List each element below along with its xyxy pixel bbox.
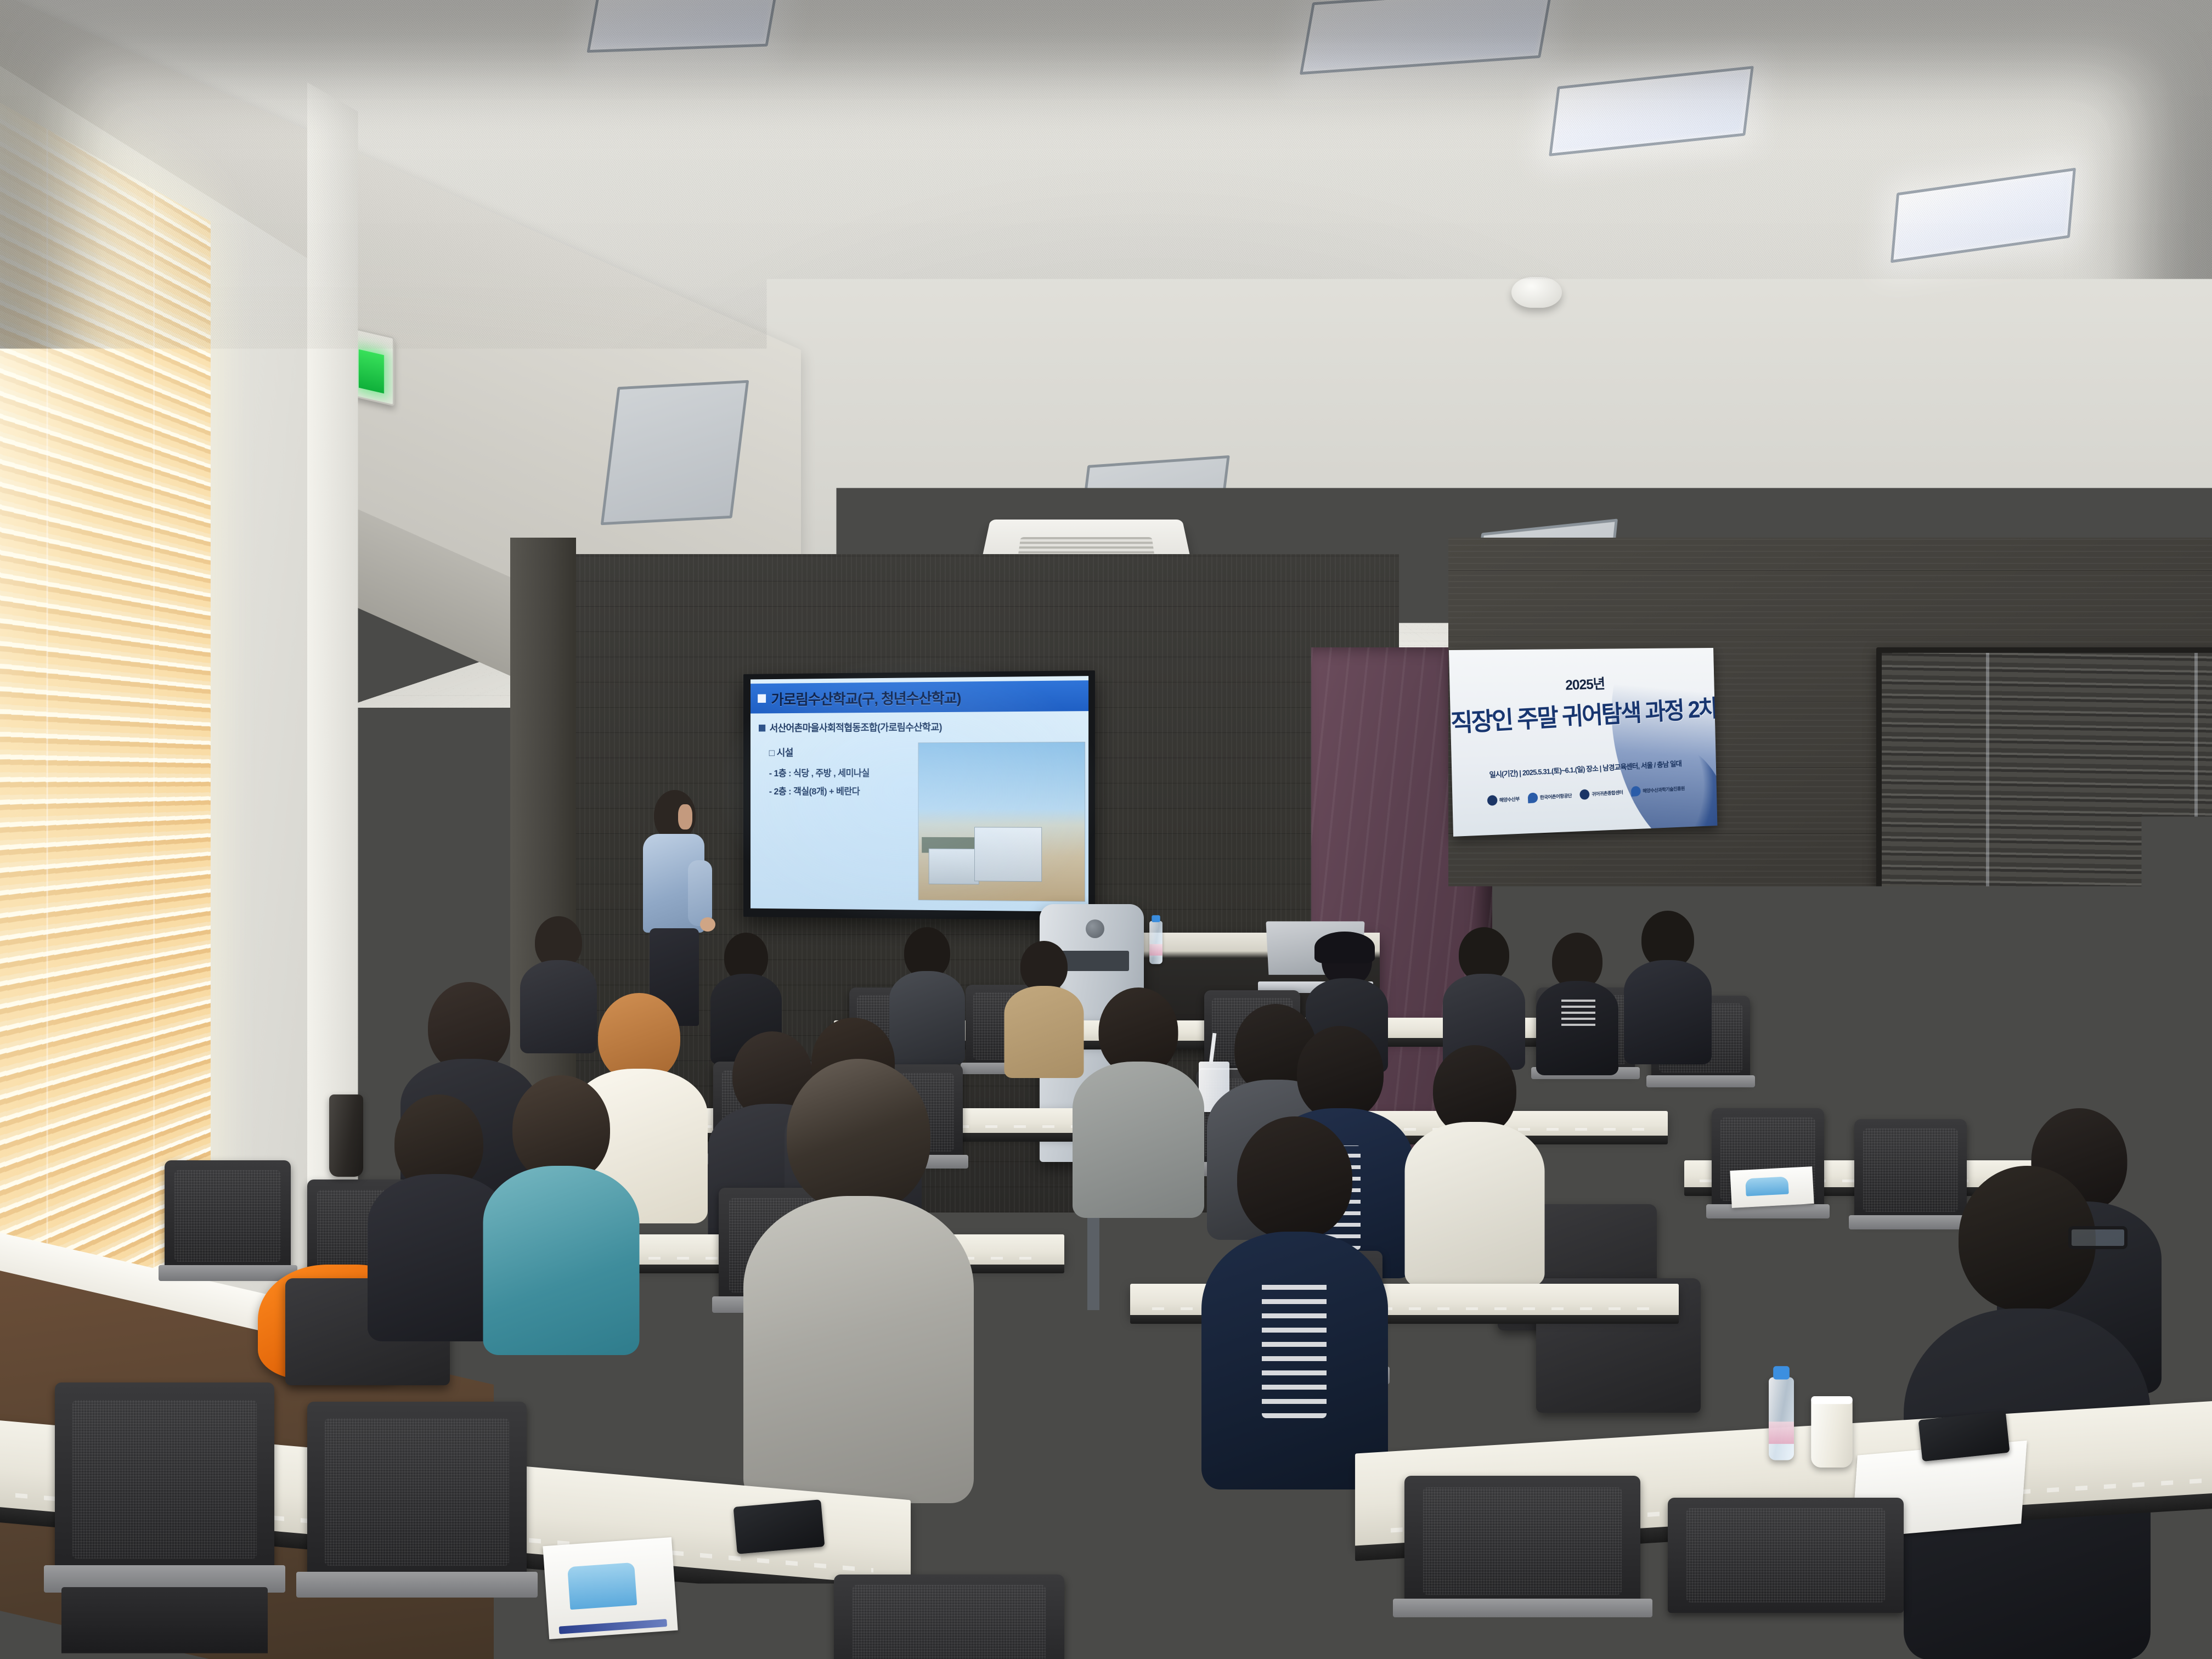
exit-icon: [359, 349, 384, 394]
chair[interactable]: [307, 1402, 527, 1659]
attendee-torso: [1536, 981, 1618, 1075]
chair-back: [55, 1383, 274, 1576]
crescent-mark-icon: [1631, 786, 1641, 797]
chair[interactable]: [55, 1383, 274, 1659]
attendee: [1404, 1045, 1544, 1286]
dark-venetian-blind-slats: [1882, 653, 2212, 960]
attendee-head: [1237, 1116, 1352, 1240]
bottle-cap: [1773, 1366, 1790, 1379]
slide-subtitle: 서산어촌마을사회적협동조합(가로림수산학교): [759, 720, 942, 735]
attendee-head: [1020, 941, 1068, 992]
chair-back: [834, 1575, 1064, 1659]
chair-rail: [296, 1572, 538, 1598]
chair-rail: [159, 1265, 297, 1281]
presenter: [631, 790, 719, 1026]
chair[interactable]: [1404, 1476, 1640, 1659]
house-mark-icon: [1579, 789, 1590, 800]
slide-subtitle-text: 서산어촌마을사회적협동조합(가로림수산학교): [770, 720, 942, 735]
attendee-shirt-graphic: [1561, 1000, 1595, 1026]
classroom-photo-scene: 가로림수산학교(구, 청년수산학교) 서산어촌마을사회적협동조합(가로림수산학교…: [0, 0, 2212, 1659]
bottle-label: [1149, 944, 1163, 956]
smoke-detector-icon: [1511, 277, 1562, 308]
attendee-shirt-graphic: [1262, 1281, 1327, 1418]
glasses-icon: [2068, 1226, 2128, 1249]
chair-rail: [1646, 1075, 1755, 1087]
attendee-cap-icon: [1314, 932, 1375, 963]
water-bottle[interactable]: [1769, 1377, 1794, 1460]
attendee-torso: [1404, 1122, 1544, 1286]
attendee: [743, 1059, 974, 1503]
attendee-head: [787, 1059, 930, 1212]
slide-photo-building-small: [928, 849, 979, 885]
slide-square-bullet-icon: [759, 724, 765, 731]
slide-list-item: - 1층 : 식당 , 주방 , 세미나실: [769, 765, 870, 779]
purifier-knob-icon: [1086, 919, 1104, 938]
presenter-hand: [700, 917, 715, 932]
chair[interactable]: [1668, 1498, 1904, 1659]
circle-mark-icon: [1487, 795, 1497, 806]
tumbler-bottle[interactable]: [329, 1094, 363, 1177]
banner-logo: 한국어촌어항공단: [1528, 790, 1572, 803]
slide-photo-building-main: [974, 827, 1042, 882]
right-window-blinds[interactable]: [1876, 647, 2212, 966]
presenter-arm: [688, 860, 712, 926]
bottle-cap: [1152, 915, 1160, 922]
handout-spine: [558, 1619, 667, 1634]
handout-paper[interactable]: [1730, 1166, 1814, 1208]
smartphone[interactable]: [733, 1499, 825, 1554]
slide-section-label: □ 시설: [769, 745, 870, 759]
handout-graphic: [1745, 1177, 1789, 1196]
slide-photo: [918, 742, 1085, 902]
projection-screen: 가로림수산학교(구, 청년수산학교) 서산어촌마을사회적협동조합(가로림수산학교…: [743, 670, 1095, 921]
slide-title-bar: 가로림수산학교(구, 청년수산학교): [751, 680, 1088, 713]
attendee-torso: [1624, 960, 1712, 1064]
banner-logo-name: 한국어촌어항공단: [1540, 792, 1572, 800]
cup-rim: [1811, 1396, 1852, 1404]
slide-list-item: - 2층 : 객실(8개) + 베란다: [769, 783, 870, 797]
slide-bullet-icon: [758, 694, 766, 703]
banner-logo: 해양수산부: [1487, 793, 1520, 806]
chair-rail: [1706, 1204, 1830, 1219]
ceiling-light-panel-off: [601, 380, 749, 526]
slide-body-list: □ 시설 - 1층 : 식당 , 주방 , 세미나실 - 2층 : 객실(8개)…: [769, 745, 870, 802]
chair-back: [165, 1160, 291, 1272]
handout-cover-graphic: [567, 1562, 637, 1610]
projected-slide: 가로림수산학교(구, 청년수산학교) 서산어촌마을사회적협동조합(가로림수산학교…: [751, 676, 1088, 912]
attendee-torso: [743, 1196, 974, 1503]
backpack: [1158, 1404, 1339, 1569]
slide-title-text: 가로림수산학교(구, 청년수산학교): [771, 686, 961, 709]
attendee: [1073, 988, 1204, 1218]
chair-back: [1668, 1498, 1904, 1613]
attendee-head: [1297, 1026, 1384, 1120]
attendee-torso: [1073, 1062, 1204, 1218]
chair-seat: [61, 1587, 268, 1659]
attendee: [1536, 933, 1618, 1075]
bottle-label: [1769, 1421, 1794, 1444]
handout-booklet[interactable]: [543, 1537, 678, 1639]
attendee: [1624, 911, 1712, 1064]
presenter-face: [678, 804, 692, 830]
chair-back: [1404, 1476, 1640, 1606]
chair[interactable]: [834, 1575, 1064, 1659]
fira-mark-icon: [1528, 792, 1538, 803]
attendee-torso: [483, 1166, 639, 1355]
attendee: [1004, 941, 1084, 1078]
water-bottle[interactable]: [1149, 921, 1163, 964]
attendee-torso: [1004, 986, 1084, 1078]
banner-logo-name: 귀어귀촌종합센터: [1592, 788, 1623, 797]
ceiling-light-panel: [586, 0, 779, 53]
chair-rail: [1393, 1599, 1652, 1617]
event-banner: 2025년 직장인 주말 귀어탐색 과정 2차 일시(기간) | 2025.5.…: [1449, 648, 1718, 837]
attendee-head: [1972, 982, 2027, 1042]
chair-back: [307, 1402, 527, 1582]
banner-logo-name: 해양수산과학기술진흥원: [1643, 785, 1685, 794]
attendee: [483, 1075, 639, 1355]
banner-logo-name: 해양수산부: [1499, 795, 1520, 803]
paper-cup[interactable]: [1811, 1396, 1852, 1468]
